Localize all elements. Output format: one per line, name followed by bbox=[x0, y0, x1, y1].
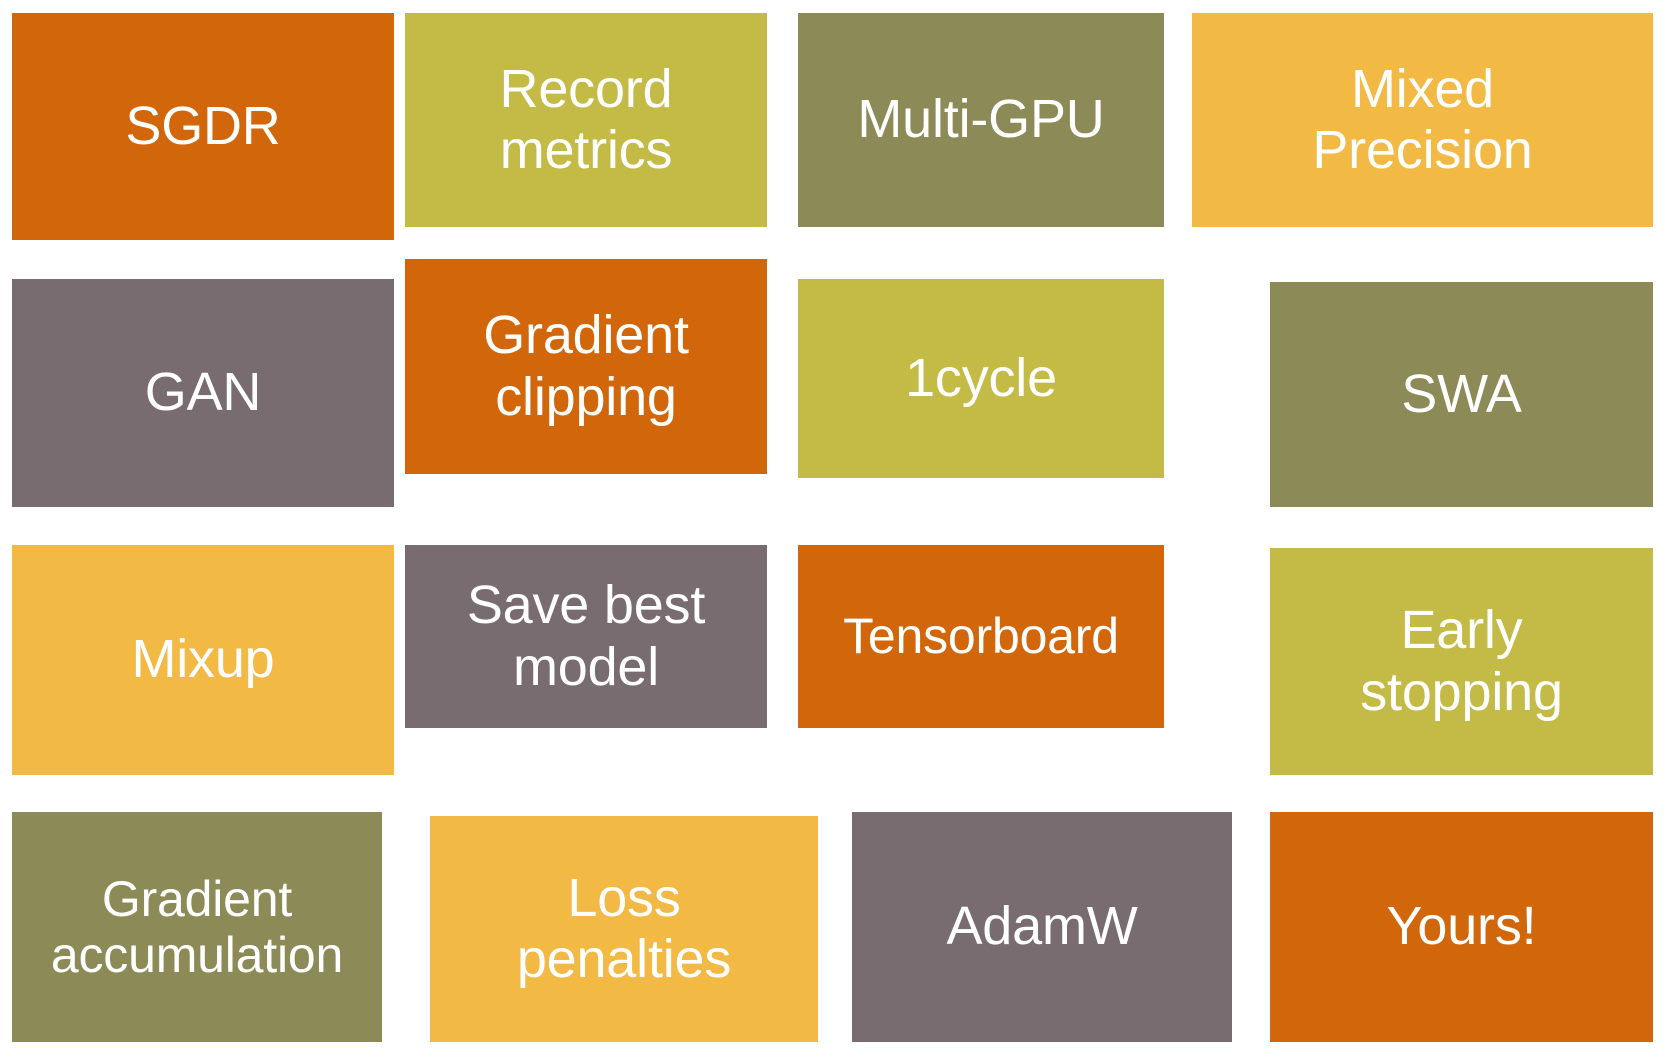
tile-1cycle[interactable]: 1cycle bbox=[798, 279, 1164, 478]
tile-save-best-model[interactable]: Save best model bbox=[405, 545, 767, 728]
tile-swa[interactable]: SWA bbox=[1270, 282, 1653, 507]
tile-label-tensorboard: Tensorboard bbox=[843, 608, 1119, 665]
tile-label-multi-gpu: Multi-GPU bbox=[857, 89, 1104, 150]
tile-mixed-precision[interactable]: Mixed Precision bbox=[1192, 13, 1653, 227]
tile-gradient-clipping[interactable]: Gradient clipping bbox=[405, 259, 767, 474]
tile-label-early-stopping: Early stopping bbox=[1360, 600, 1563, 722]
tile-sgdr[interactable]: SGDR bbox=[12, 13, 394, 240]
tile-label-swa: SWA bbox=[1401, 364, 1521, 425]
tile-multi-gpu[interactable]: Multi-GPU bbox=[798, 13, 1164, 227]
tile-label-record-metrics: Record metrics bbox=[500, 59, 673, 181]
tile-label-yours: Yours! bbox=[1387, 896, 1537, 957]
tile-mixup[interactable]: Mixup bbox=[12, 545, 394, 775]
tile-record-metrics[interactable]: Record metrics bbox=[405, 13, 767, 227]
tile-label-save-best-model: Save best model bbox=[467, 575, 705, 697]
tile-gan[interactable]: GAN bbox=[12, 279, 394, 507]
tile-label-gradient-accumulation: Gradient accumulation bbox=[51, 871, 343, 984]
tile-loss-penalties[interactable]: Loss penalties bbox=[430, 816, 818, 1042]
tile-early-stopping[interactable]: Early stopping bbox=[1270, 548, 1653, 775]
tile-yours[interactable]: Yours! bbox=[1270, 812, 1653, 1042]
tile-label-loss-penalties: Loss penalties bbox=[517, 868, 731, 990]
tile-label-adamw: AdamW bbox=[946, 896, 1137, 957]
tile-label-gradient-clipping: Gradient clipping bbox=[483, 305, 689, 427]
tile-adamw[interactable]: AdamW bbox=[852, 812, 1232, 1042]
tile-label-gan: GAN bbox=[145, 362, 261, 423]
tile-gradient-accumulation[interactable]: Gradient accumulation bbox=[12, 812, 382, 1042]
tile-label-mixup: Mixup bbox=[131, 629, 274, 690]
tile-label-mixed-precision: Mixed Precision bbox=[1312, 59, 1532, 181]
tile-label-1cycle: 1cycle bbox=[905, 348, 1057, 409]
tile-tensorboard[interactable]: Tensorboard bbox=[798, 545, 1164, 728]
tile-label-sgdr: SGDR bbox=[125, 96, 280, 157]
tile-grid-canvas: SGDRRecord metricsMulti-GPUMixed Precisi… bbox=[0, 0, 1669, 1057]
